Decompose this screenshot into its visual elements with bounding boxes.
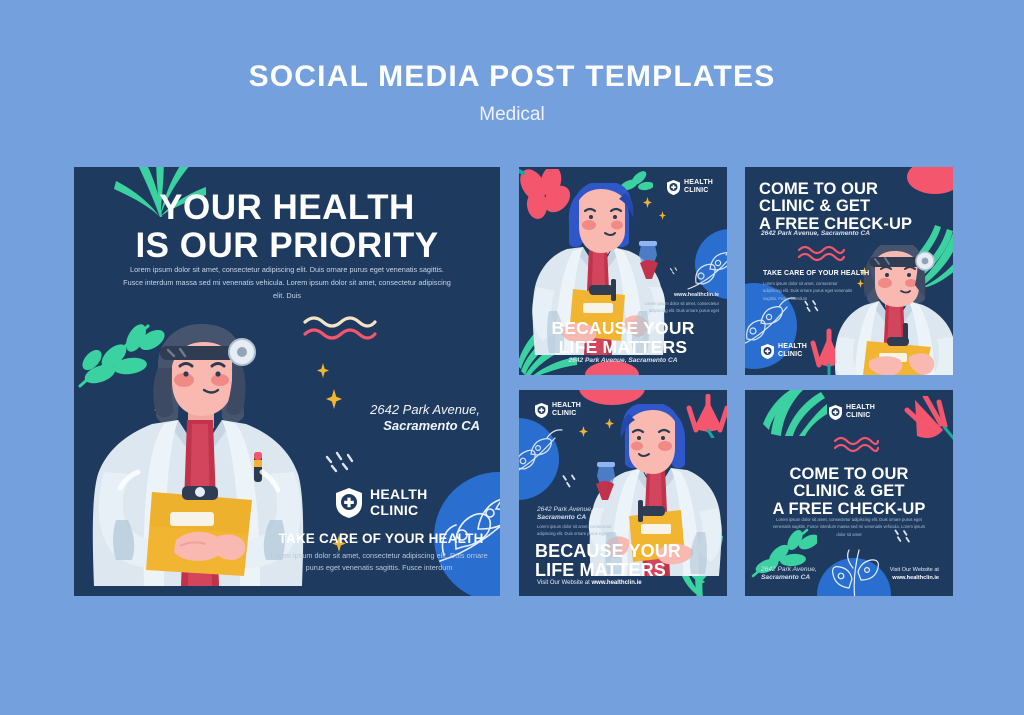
br-address-line2: Sacramento CA [761,574,851,582]
bm-brand-name: HEALTH CLINIC [552,402,581,418]
pink-flower-decor [685,394,727,438]
shield-plus-icon [336,488,362,518]
sparkle-icon [641,424,649,434]
br-address-line1: 2642 Park Avenue, [761,566,851,574]
hero-footer-text: Lorem ipsum dolor sit amet, consectetur … [270,550,488,575]
tm-micro-text: Lorem ipsum dolor sit amet, consectetur … [629,300,719,315]
doctor-illustration [835,245,953,375]
bm-website[interactable]: www.healthclin.ie [591,580,641,586]
wavy-lines-decor [797,243,845,263]
sparkle-icon [675,428,682,437]
br-micro-text: Lorem ipsum dolor sit amet, consectetur … [771,516,927,538]
br-headline-line1: COME TO OUR [745,466,953,483]
bm-visit-prefix: Visit Our Website at [537,580,590,586]
sparkle-icon [913,287,920,296]
shield-plus-icon [535,403,548,418]
br-headline: COME TO OUR CLINIC & GET A FREE CHECK-UP [745,466,953,518]
page-subtitle: Medical [0,104,1024,126]
hero-brand-name: HEALTH CLINIC [370,487,428,518]
pink-flower-decor [519,169,575,223]
tm-headline-line1: BECAUSE YOUR [519,319,727,338]
bm-headline-line1: BECAUSE YOUR [535,542,715,561]
bm-address: 2642 Park Avenue, Sacramento CA [537,506,637,522]
sparkle-icon [96,539,110,556]
hero-headline-line2: IS OUR PRIORITY [74,227,500,265]
pink-blob-decor [577,390,647,410]
leaf-sprig-icon [619,169,653,195]
sparkle-icon [606,209,613,218]
bm-headline: BECAUSE YOUR LIFE MATTERS [535,542,715,580]
card-hero[interactable]: YOUR HEALTH IS OUR PRIORITY Lorem ipsum … [74,167,500,596]
tr-micro-text: Lorem ipsum dolor sit amet, consectetur … [763,280,853,302]
sparkle-icon [905,255,913,265]
sparkle-icon [317,363,329,378]
brand-line1: HEALTH [552,402,581,410]
tm-brand-name: HEALTH CLINIC [684,179,713,195]
wavy-lines-decor [833,434,879,454]
card-bottom-right[interactable]: HEALTH CLINIC COME TO OUR CLINIC & GET A… [745,390,953,596]
hero-address: 2642 Park Avenue, Sacramento CA [284,402,480,435]
brand-line1: HEALTH [370,487,428,503]
tr-brand-logo[interactable]: HEALTH CLINIC [761,343,807,359]
page-title: SOCIAL MEDIA POST TEMPLATES [0,60,1024,94]
br-brand-logo[interactable]: HEALTH CLINIC [829,404,875,420]
hero-headline-line1: YOUR HEALTH [74,189,500,227]
br-address: 2642 Park Avenue, Sacramento CA [761,566,851,582]
sparkle-icon [635,482,643,492]
hero-brand-logo[interactable]: HEALTH CLINIC [336,487,486,518]
brand-line1: HEALTH [778,343,807,351]
wavy-lines-decor [302,312,378,344]
tr-headline-line1: COME TO OUR [759,181,949,198]
tm-brand-logo[interactable]: HEALTH CLINIC [667,179,713,195]
br-visit-prefix: Visit Our Website at [855,566,939,574]
hero-address-line1: 2642 Park Avenue, [284,402,480,418]
tr-brand-name: HEALTH CLINIC [778,343,807,359]
bm-address-line2: Sacramento CA [537,514,637,522]
sparkle-icon [857,279,864,288]
br-brand-name: HEALTH CLINIC [846,404,875,420]
brand-line2: CLINIC [684,187,713,195]
hero-address-line2: Sacramento CA [284,418,480,434]
card-top-right[interactable]: COME TO OUR CLINIC & GET A FREE CHECK-UP… [745,167,953,375]
card-top-middle[interactable]: HEALTH CLINIC www.healthclin.ie Lorem ip… [519,167,727,375]
tr-headline: COME TO OUR CLINIC & GET A FREE CHECK-UP [759,181,949,233]
tm-headline-line2: LIFE MATTERS [519,338,727,357]
bm-micro-text: Lorem ipsum dolor sit amet, consectetur … [537,523,617,538]
brand-line2: CLINIC [552,410,581,418]
sparkle-icon [172,357,188,377]
shield-plus-icon [667,180,680,195]
blue-circle-decor [695,229,727,299]
palm-leaf-icon [761,390,827,436]
sparkle-icon [697,512,706,523]
blue-circle-decor [519,418,559,500]
tm-headline: BECAUSE YOUR LIFE MATTERS [519,319,727,356]
brand-line2: CLINIC [370,503,428,519]
pink-flower-decor [903,396,953,448]
tm-website[interactable]: www.healthclin.ie [619,292,719,298]
bm-website-line[interactable]: Visit Our Website at www.healthclin.ie [537,580,642,586]
shield-plus-icon [829,405,842,420]
sparkle-icon [923,343,932,354]
brand-line2: CLINIC [778,351,807,359]
pink-flower-decor [809,327,849,375]
sparkle-icon [605,418,614,429]
dashes-decor [669,263,681,278]
bm-address-line1: 2642 Park Avenue, [537,506,637,514]
br-website-line[interactable]: Visit Our Website at www.healthclin.ie [855,566,939,582]
brand-line1: HEALTH [846,404,875,412]
br-headline-line2: CLINIC & GET [745,483,953,500]
leaf-branch-icon [78,310,168,390]
hero-headline: YOUR HEALTH IS OUR PRIORITY [74,189,500,265]
hero-cta: TAKE CARE OF YOUR HEALTH [274,531,488,546]
dashes-decor [561,472,583,490]
bm-brand-logo[interactable]: HEALTH CLINIC [535,402,581,418]
sparkle-icon [579,426,588,437]
tr-cta: TAKE CARE OF YOUR HEALTH [763,270,903,277]
sparkle-icon [154,403,165,417]
dashes-decor [324,449,360,473]
sparkle-icon [659,211,666,220]
brand-line2: CLINIC [846,412,875,420]
sparkle-icon [257,563,269,578]
sparkle-icon [541,293,550,304]
sparkle-icon [591,201,600,212]
page-header: SOCIAL MEDIA POST TEMPLATES Medical [0,0,1024,126]
card-bottom-middle[interactable]: HEALTH CLINIC 2642 Park Avenue, Sacramen… [519,390,727,596]
br-website[interactable]: www.healthclin.ie [892,575,939,581]
brand-line1: HEALTH [684,179,713,187]
bm-headline-line2: LIFE MATTERS [535,561,715,580]
shield-plus-icon [761,344,774,359]
tr-headline-line2: CLINIC & GET [759,198,949,215]
tm-address: 2642 Park Avenue, Sacramento CA [519,357,727,364]
tr-address: 2642 Park Avenue, Sacramento CA [761,230,941,237]
hero-body-text: Lorem ipsum dolor sit amet, consectetur … [120,264,454,302]
sparkle-icon [643,197,652,208]
